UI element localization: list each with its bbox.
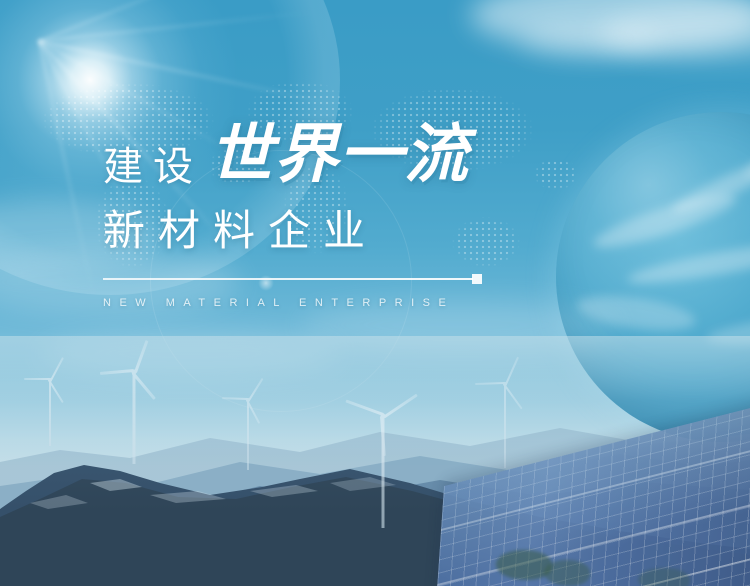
- headline-lead-text: 建设: [103, 147, 203, 187]
- headline-block: 建设 世界一流 新材料企业 NEW MATERIAL ENTERPRISE: [103, 122, 623, 309]
- foliage: [638, 568, 690, 586]
- wind-turbine: [30, 380, 70, 446]
- subtitle-text: NEW MATERIAL ENTERPRISE: [103, 297, 623, 309]
- hero-banner: 建设 世界一流 新材料企业 NEW MATERIAL ENTERPRISE: [0, 0, 750, 586]
- headline-line-one: 建设 世界一流: [103, 122, 623, 196]
- headline-line-two: 新材料企业: [103, 210, 623, 252]
- wind-turbine: [108, 372, 160, 464]
- divider-end-cap: [472, 274, 482, 284]
- headline-emphasis-text: 世界一流: [209, 122, 469, 186]
- cloud: [520, 22, 660, 56]
- wind-turbine: [228, 400, 268, 470]
- wind-turbine: [352, 416, 414, 528]
- foliage: [544, 560, 590, 586]
- foliage: [496, 550, 552, 580]
- wind-turbine: [482, 384, 528, 468]
- planet-cloud: [626, 236, 750, 291]
- landscape: [0, 336, 750, 586]
- divider-rule: [103, 278, 473, 280]
